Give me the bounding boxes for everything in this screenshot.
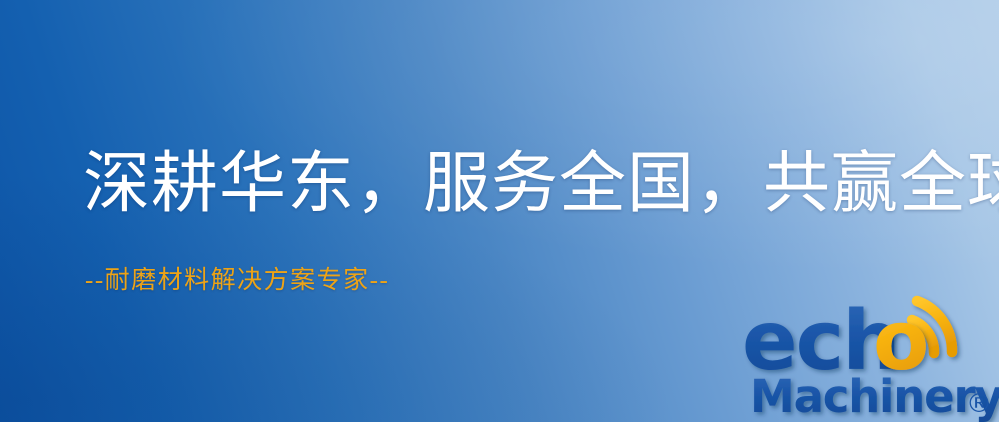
banner-subtitle: --耐磨材料解决方案专家-- [85,268,389,293]
banner-headline: 深耕华东，服务全国，共赢全球 [83,151,999,218]
promo-banner: 深耕华东，服务全国，共赢全球 --耐磨材料解决方案专家-- [0,0,999,422]
echo-machinery-logo: ech o Machinery ® [742,296,999,422]
logo-subword: Machinery [750,370,999,422]
registered-trademark-icon: ® [966,389,992,419]
